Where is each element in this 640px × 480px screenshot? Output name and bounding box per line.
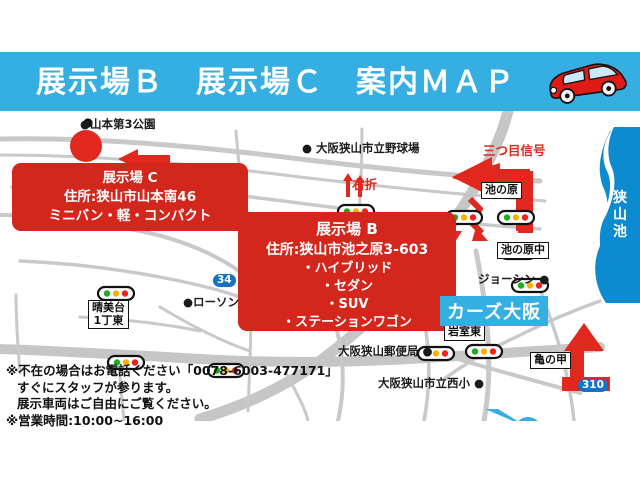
callout-b-kind-3: ・SUV (238, 296, 456, 314)
callout-b-kind-2: ・セダン (238, 278, 456, 296)
page-title: 展示場Ｂ 展示場Ｃ 案内ＭＡＰ (36, 62, 516, 104)
callout-c-kinds: ミニバン・軽・コンパクト (12, 207, 248, 226)
annotation-third-signal: 三つ目信号 (483, 140, 546, 159)
callout-c-title: 展示場 C (12, 169, 248, 188)
destination-label-cars-osaka: カーズ大阪 (440, 296, 548, 326)
poi-label-yamamoto-park: ●山本第3公園 (80, 116, 156, 132)
callout-c-address: 住所:狭山市山本南46 (12, 188, 248, 207)
lake-label-sayamaike: 狭山池 (611, 190, 629, 241)
harumidai-line-2: 1丁東 (92, 315, 125, 328)
callout-showroom-c: 展示場 C 住所:狭山市山本南46 ミニバン・軽・コンパクト (12, 163, 248, 231)
intersection-iwamuro-higashi: 岩室東 (444, 324, 485, 341)
note-line-3: 展示車両はご自由にご覧ください。 (6, 396, 338, 413)
showroom-c-marker (70, 130, 102, 162)
poi-label-joshin: ジョーシン ● (478, 271, 549, 287)
route-shield-310: 310 (578, 379, 608, 392)
callout-b-title: 展示場 B (238, 219, 456, 240)
destination-dot (514, 417, 542, 421)
intersection-harumidai: 晴美台 1丁東 (88, 300, 129, 329)
intersection-ikenohara-naka: 池の原中 (497, 242, 549, 259)
harumidai-line-1: 晴美台 (92, 302, 125, 315)
note-line-4: ※営業時間:10:00~16:00 (6, 413, 338, 430)
note-line-1: ※不在の場合はお電話ください「0078-6003-477171」 (6, 363, 338, 380)
callout-b-kind-1: ・ハイブリッド (238, 260, 456, 278)
poi-label-nishi-elementary: 大阪狭山市立西小 ● (378, 375, 484, 391)
poi-label-baseball-stadium: ● 大阪狭山市立野球場 (302, 140, 420, 156)
note-line-2: すぐにスタッフが参ります。 (6, 380, 338, 397)
callout-showroom-b: 展示場 B 住所:狭山市池之原3-603 ・ハイブリッド ・セダン ・SUV ・… (238, 212, 456, 331)
destination-pointer (485, 409, 542, 421)
poi-label-post-office: 大阪狭山郵便局 ● (338, 343, 433, 359)
poi-label-lawson: ●ローソン (183, 294, 239, 310)
red-minivan-icon (538, 60, 632, 106)
intersection-ikenohara: 池の原 (481, 182, 522, 199)
intersection-kame-no-ko: 亀の甲 (530, 352, 571, 369)
annotation-turn-right: 右折 (352, 174, 377, 193)
callout-b-address: 住所:狭山市池之原3-603 (238, 240, 456, 260)
route-shield-34: 34 (213, 274, 236, 287)
footer-note: ※不在の場合はお電話ください「0078-6003-477171」 すぐにスタッフ… (6, 363, 338, 429)
callout-b-kind-4: ・ステーションワゴン (238, 314, 456, 332)
map-flyer: 展示場Ｂ 展示場Ｃ 案内ＭＡＰ (0, 0, 640, 480)
